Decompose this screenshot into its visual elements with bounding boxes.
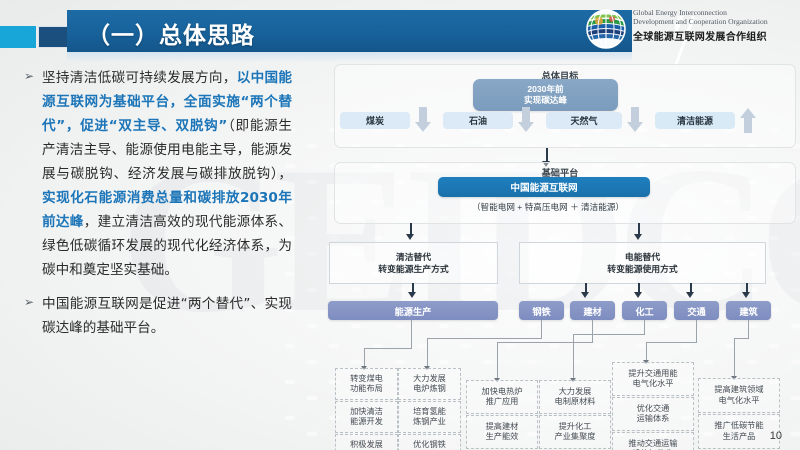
connector-line [541,320,542,338]
logo-text-block: Global Energy Interconnection Developmen… [633,8,768,43]
task-box: 提升交通用能电气化水平 [612,362,694,396]
task-label: 优化钢铁产业结构 [413,440,446,450]
trend-arrow-down-gas [627,107,643,133]
connector-line [646,342,647,362]
strategy-line-1: 清洁替代 [396,252,431,262]
strategy-diagram: 总体目标 2030年前实现碳达峰 煤炭 石油 天然气 清洁能源 基础平台 中国能… [330,60,800,440]
task-box: 加快清洁能源开发 [335,401,398,433]
page-title: （一）总体思路 [87,16,255,50]
task-box: 提高建材生产能效 [466,415,538,449]
connector-line [497,342,498,380]
task-box: 培育氢能炼钢产业 [398,401,461,433]
task-label: 转变煤电功能布局 [350,374,383,395]
flow-arrow-to-clean-substitution [406,223,415,241]
flow-arrow-to-transport [686,283,695,299]
connector-line [734,338,749,339]
bullet-arrow-icon: ➢ [24,70,34,82]
platform-subtitle: （智能电网 + 特高压电网 ＋ 清洁能源） [418,201,678,213]
connector-line [644,320,645,334]
task-box: 提升化工产业集聚度 [539,415,611,449]
sector-box-energy-production: 能源生产 [328,301,498,320]
task-label: 优化交通运输体系 [637,404,670,425]
fuel-box-coal: 煤炭 [340,112,410,129]
flow-arrow-to-electric-substitution [634,223,643,241]
connector-line [573,334,645,335]
header-title-bar: （一）总体思路 [67,10,632,52]
slide-canvas: GEIDCO （一）总体思路 [0,0,800,450]
trend-arrow-down-coal [415,107,431,133]
connector-line [646,342,697,343]
strategy-label: 电能替代 转变能源使用方式 [607,251,677,275]
task-box: 提高建筑领域电气化水平 [698,378,780,413]
globe-icon [585,8,627,50]
task-label: 提高建材生产能效 [486,422,519,443]
body-text-column: ➢ 坚持清洁低碳可持续发展方向，以中国能源互联网为基础平台，全面实施“两个替代”… [24,66,292,350]
task-label: 提升化工产业集聚度 [555,422,596,443]
sector-box-chemicals: 化工 [622,301,667,320]
fuel-box-clean-energy: 清洁能源 [655,112,735,129]
task-box: 大力发展电炉炼钢 [398,368,461,400]
organization-logo: Global Energy Interconnection Developmen… [585,6,795,52]
strategy-line-2: 转变能源生产方式 [378,264,448,274]
bullet-item: ➢ 坚持清洁低碳可持续发展方向，以中国能源互联网为基础平台，全面实施“两个替代”… [24,66,292,282]
fuel-box-oil: 石油 [443,112,513,129]
bullet-paragraph: 坚持清洁低碳可持续发展方向，以中国能源互联网为基础平台，全面实施“两个替代”，促… [42,66,292,282]
page-number: 10 [770,430,782,442]
logo-line-cn: 全球能源互联网发展合作组织 [633,28,768,43]
sector-box-building-materials: 建材 [570,301,615,320]
task-label: 提高建筑领域电气化水平 [714,385,763,406]
connector-line [497,342,593,343]
task-label: 加快清洁能源开发 [350,407,383,428]
logo-line-en-1: Global Energy Interconnection [633,8,768,17]
task-box: 大力发展电制原材料 [539,380,611,414]
flow-arrow-to-energy-production [408,283,417,299]
connector-line [696,320,697,342]
strategy-label: 清洁替代 转变能源生产方式 [378,251,448,275]
task-label: 积极发展电制燃料 [350,440,383,450]
task-box: 优化交通运输体系 [612,397,694,431]
connector-line [411,320,412,348]
task-box: 转变煤电功能布局 [335,368,398,400]
sector-box-steel: 钢铁 [519,301,564,320]
goal-box-label: 2030年前实现碳达峰 [524,84,567,106]
text-segment: 坚持清洁低碳可持续发展方向， [42,70,237,86]
sector-box-construction: 建筑 [726,301,771,320]
task-label: 加快电热炉推广应用 [482,387,523,408]
bullet-paragraph: 中国能源互联网是促进“两个替代”、实现碳达峰的基础平台。 [42,292,292,340]
flow-arrow-to-construction [742,283,751,299]
task-box: 加快电热炉推广应用 [466,380,538,414]
connector-line [592,320,593,342]
task-box: 推广低碳节能生活产品 [698,414,780,449]
strategy-line-1: 电能替代 [625,252,660,262]
strategy-box-electric-substitution: 电能替代 转变能源使用方式 [519,242,766,284]
trend-arrow-down-oil [518,107,534,133]
task-box: 推动交通运输设施智能化 [612,432,694,450]
task-box: 积极发展电制燃料 [335,434,398,450]
sector-box-transport: 交通 [674,301,719,320]
goal-box: 2030年前实现碳达峰 [473,79,618,111]
slide-header: （一）总体思路 [0,0,800,62]
bullet-item: ➢ 中国能源互联网是促进“两个替代”、实现碳达峰的基础平台。 [24,292,292,340]
trend-arrow-up-clean-energy [740,107,756,133]
connector-line [364,348,365,368]
logo-line-en-2: Development and Cooperation Organization [633,17,768,26]
connector-line [573,334,574,380]
task-label: 推广低碳节能生活产品 [714,421,763,442]
task-label: 培育氢能炼钢产业 [413,407,446,428]
fuel-box-gas: 天然气 [546,112,622,129]
text-segment: 中国能源互联网是促进“两个替代”、实现碳达峰的基础平台。 [42,296,292,336]
strategy-line-2: 转变能源使用方式 [607,264,677,274]
flow-arrow-to-chemicals [634,283,643,299]
bullet-arrow-icon: ➢ [24,296,34,308]
strategy-box-clean-substitution: 清洁替代 转变能源生产方式 [329,242,498,284]
task-label: 提升交通用能电气化水平 [628,369,677,390]
connector-line [427,338,542,339]
flow-arrow-to-building-materials [581,283,590,299]
connector-line [734,338,735,378]
header-deco-cyan [0,26,36,48]
task-label: 推动交通运输设施智能化 [628,439,677,450]
connector-line [748,320,749,338]
task-box: 优化钢铁产业结构 [398,434,461,450]
task-label: 大力发展电制原材料 [555,387,596,408]
connector-line [427,338,428,368]
connector-line [364,348,412,349]
task-label: 大力发展电炉炼钢 [413,374,446,395]
platform-box: 中国能源互联网 [438,177,650,197]
